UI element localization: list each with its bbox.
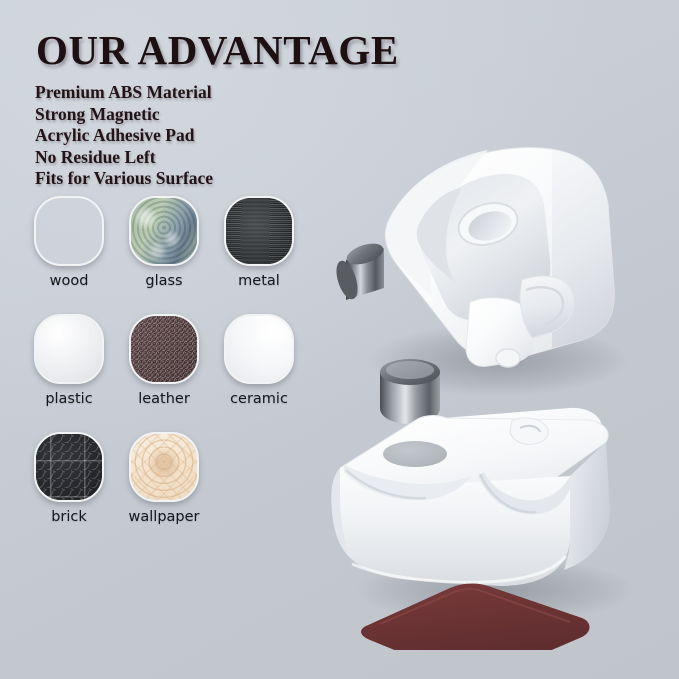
upper-holder-group bbox=[332, 148, 628, 396]
lower-assembly-group bbox=[331, 359, 635, 650]
product-render-svg bbox=[320, 120, 679, 650]
glass-texture-icon bbox=[131, 198, 197, 264]
surface-row-2: plastic leather ceramic bbox=[34, 314, 324, 407]
swatch-glass: glass bbox=[129, 196, 199, 289]
swatch-tile-metal bbox=[224, 196, 294, 266]
upper-peg bbox=[496, 349, 520, 367]
swatch-tile-leather bbox=[129, 314, 199, 384]
swatch-tile-brick bbox=[34, 432, 104, 502]
swatch-label: glass bbox=[145, 273, 182, 289]
swatch-brick: brick bbox=[34, 432, 104, 525]
lower-magnet-top-highlight bbox=[386, 361, 434, 379]
page-title: OUR ADVANTAGE bbox=[36, 27, 399, 73]
advantage-poster: OUR ADVANTAGE Premium ABS Material Stron… bbox=[0, 0, 679, 679]
swatch-label: metal bbox=[238, 273, 280, 289]
swatch-label: ceramic bbox=[230, 391, 288, 407]
feature-item: Strong Magnetic bbox=[35, 104, 213, 126]
swatch-label: wallpaper bbox=[129, 509, 200, 525]
swatch-label: brick bbox=[51, 509, 87, 525]
wallpaper-texture-icon bbox=[131, 434, 197, 500]
feature-item: Premium ABS Material bbox=[35, 82, 213, 104]
swatch-ceramic: ceramic bbox=[224, 314, 294, 407]
product-illustration bbox=[320, 120, 679, 650]
surface-swatch-grid: wood glass metal plastic bbox=[34, 196, 324, 550]
swatch-metal: metal bbox=[224, 196, 294, 289]
feature-item: Fits for Various Surface bbox=[35, 168, 213, 190]
metal-texture-icon bbox=[226, 198, 292, 264]
surface-row-1: wood glass metal bbox=[34, 196, 324, 289]
swatch-label: wood bbox=[50, 273, 89, 289]
surface-row-3: brick wallpaper bbox=[34, 432, 324, 525]
upper-magnet-icon bbox=[332, 240, 386, 302]
wood-texture-icon bbox=[36, 198, 102, 264]
swatch-tile-wallpaper bbox=[129, 432, 199, 502]
swatch-leather: leather bbox=[129, 314, 199, 407]
swatch-label: leather bbox=[138, 391, 190, 407]
feature-item: No Residue Left bbox=[35, 147, 213, 169]
swatch-tile-plastic bbox=[34, 314, 104, 384]
swatch-plastic: plastic bbox=[34, 314, 104, 407]
plastic-texture-icon bbox=[36, 316, 102, 382]
swatch-tile-ceramic bbox=[224, 314, 294, 384]
swatch-label: plastic bbox=[45, 391, 92, 407]
brick-texture-icon bbox=[36, 434, 102, 500]
swatch-tile-glass bbox=[129, 196, 199, 266]
swatch-wood: wood bbox=[34, 196, 104, 289]
lower-magnet-icon bbox=[380, 359, 440, 424]
feature-list: Premium ABS Material Strong Magnetic Acr… bbox=[35, 82, 213, 190]
feature-item: Acrylic Adhesive Pad bbox=[35, 125, 213, 147]
ceramic-texture-icon bbox=[226, 316, 292, 382]
leather-texture-icon bbox=[131, 316, 197, 382]
lower-magnet-recess bbox=[383, 441, 447, 467]
swatch-tile-wood bbox=[34, 196, 104, 266]
swatch-wallpaper: wallpaper bbox=[129, 432, 199, 525]
